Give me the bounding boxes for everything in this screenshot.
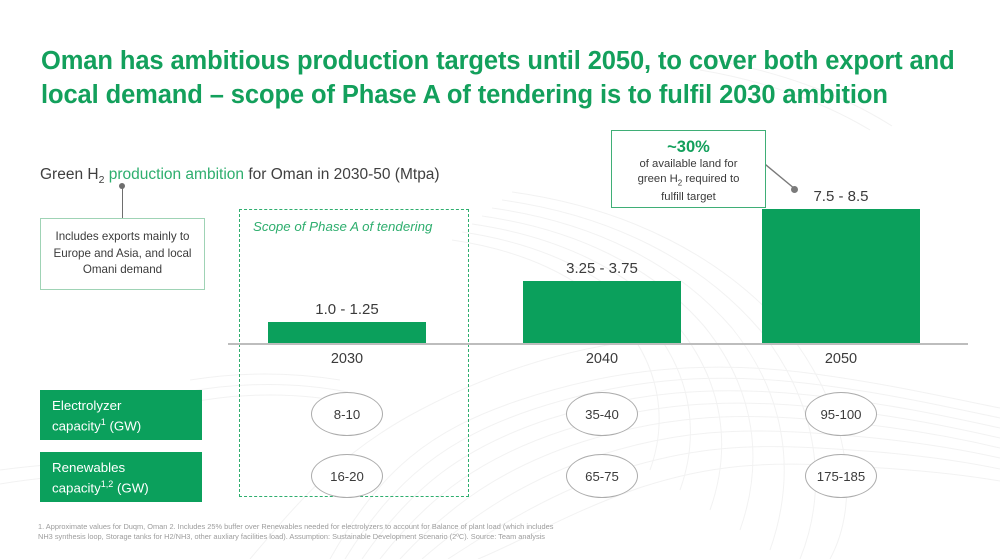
bar-category-2030: 2030 bbox=[268, 351, 426, 367]
bar-value-2050: 7.5 - 8.5 bbox=[762, 188, 920, 205]
row-label-renewables-line1: Renewables bbox=[52, 460, 125, 475]
bar-category-2040: 2040 bbox=[523, 351, 681, 367]
row-label-renewables-capacity: Renewables capacity1,2 (GW) bbox=[40, 452, 202, 502]
left-callout-box: Includes exports mainly to Europe and As… bbox=[40, 218, 205, 290]
bar-value-2030: 1.0 - 1.25 bbox=[268, 301, 426, 318]
row-label-electrolyzer-capacity: Electrolyzer capacity1 (GW) bbox=[40, 390, 202, 440]
left-callout-leader-line bbox=[122, 186, 123, 218]
value-oval-renewables-2040: 65-75 bbox=[566, 454, 638, 498]
row-label-electrolyzer-line2: capacity bbox=[52, 418, 101, 433]
row-label-renewables-footnote-marker: 1,2 bbox=[101, 479, 114, 489]
left-callout-text: Includes exports mainly to Europe and As… bbox=[41, 229, 204, 279]
land-share-line3: fulfill target bbox=[612, 190, 765, 205]
bar-value-2040: 3.25 - 3.75 bbox=[523, 260, 681, 277]
land-share-line2b: required to bbox=[682, 173, 739, 185]
slide-canvas: Oman has ambitious production targets un… bbox=[0, 0, 1000, 559]
land-share-connector-dot bbox=[791, 186, 798, 193]
row-label-electrolyzer-unit: (GW) bbox=[106, 418, 141, 433]
row-label-renewables-unit: (GW) bbox=[113, 480, 148, 495]
value-oval-electrolyzer-2050: 95-100 bbox=[805, 392, 877, 436]
land-share-callout-box: ~30% of available land for green H2 requ… bbox=[611, 130, 766, 208]
value-oval-renewables-2050: 175-185 bbox=[805, 454, 877, 498]
subtitle-highlight: production ambition bbox=[104, 166, 244, 183]
bar-2040 bbox=[523, 281, 681, 343]
footnote-line1: 1. Approximate values for Duqm, Oman 2. … bbox=[38, 522, 678, 532]
row-label-renewables-line2: capacity bbox=[52, 480, 101, 495]
land-share-headline: ~30% bbox=[612, 137, 765, 157]
scope-phase-a-label: Scope of Phase A of tendering bbox=[253, 219, 432, 234]
land-share-line1: of available land for bbox=[612, 157, 765, 172]
chart-subtitle: Green H2 production ambition for Oman in… bbox=[40, 166, 440, 186]
page-title: Oman has ambitious production targets un… bbox=[41, 44, 971, 112]
subtitle-part1: Green H bbox=[40, 166, 99, 183]
land-share-line2a: green H bbox=[638, 173, 678, 185]
row-label-electrolyzer-line1: Electrolyzer bbox=[52, 398, 121, 413]
value-oval-electrolyzer-2030: 8-10 bbox=[311, 392, 383, 436]
bar-2050 bbox=[762, 209, 920, 343]
subtitle-part3: for Oman in 2030-50 (Mtpa) bbox=[244, 166, 440, 183]
footnote: 1. Approximate values for Duqm, Oman 2. … bbox=[38, 522, 678, 543]
footnote-line2: NH3 synthesis loop, Storage tanks for H2… bbox=[38, 532, 678, 542]
chart-baseline-axis bbox=[228, 343, 968, 345]
value-oval-renewables-2030: 16-20 bbox=[311, 454, 383, 498]
land-share-line2: green H2 required to bbox=[612, 172, 765, 191]
bar-category-2050: 2050 bbox=[762, 351, 920, 367]
left-callout-leader-dot bbox=[119, 183, 125, 189]
bar-2030 bbox=[268, 322, 426, 343]
value-oval-electrolyzer-2040: 35-40 bbox=[566, 392, 638, 436]
